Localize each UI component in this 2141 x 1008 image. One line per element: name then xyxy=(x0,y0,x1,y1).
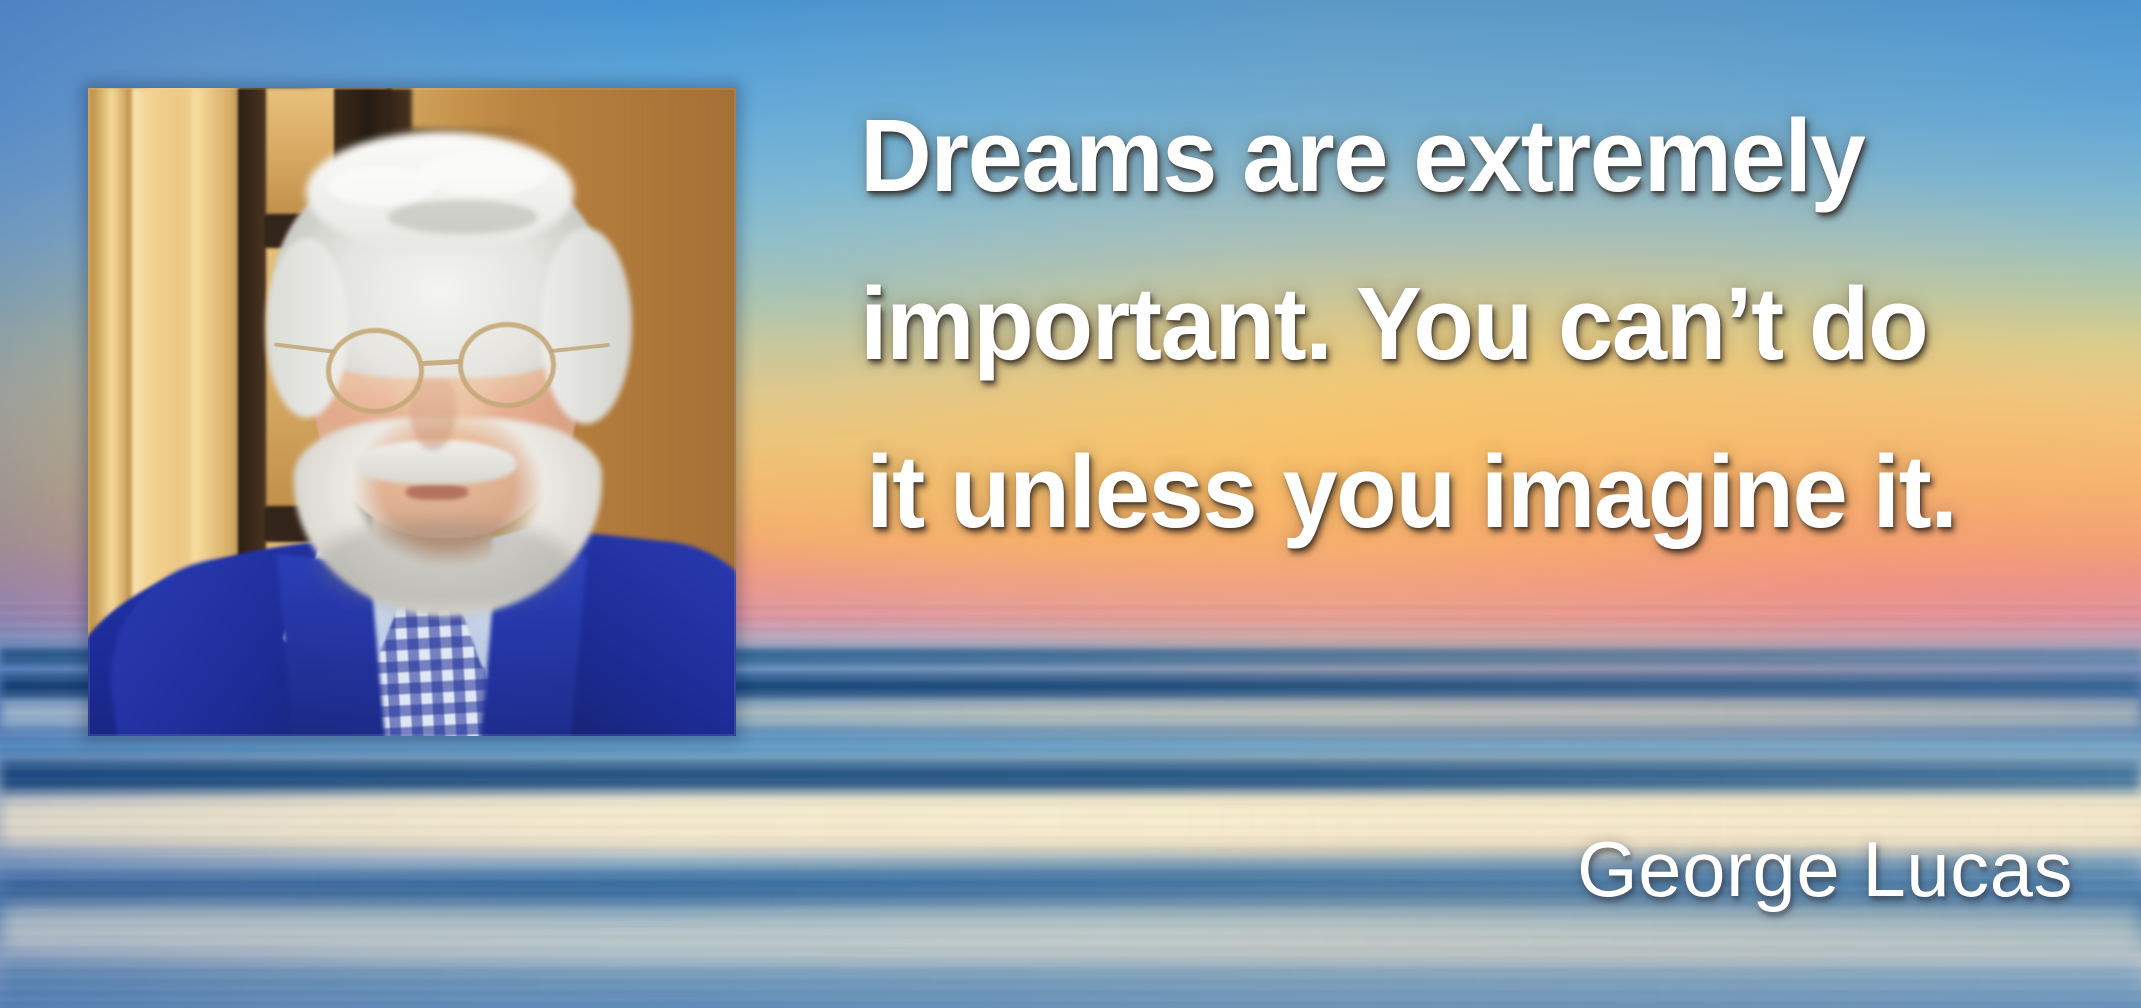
portrait-photo xyxy=(88,88,736,736)
quote-line-3: it unless you imagine it. xyxy=(866,408,2047,576)
quote-card: Dreams are extremely important. You can’… xyxy=(0,0,2141,1008)
photo-inner-edge xyxy=(88,88,736,736)
quote-line-2: important. You can’t do xyxy=(860,240,2047,408)
quote-attribution: George Lucas xyxy=(1577,824,2073,915)
quote-text-block: Dreams are extremely important. You can’… xyxy=(860,72,2090,576)
quote-line-1: Dreams are extremely xyxy=(860,72,2047,240)
